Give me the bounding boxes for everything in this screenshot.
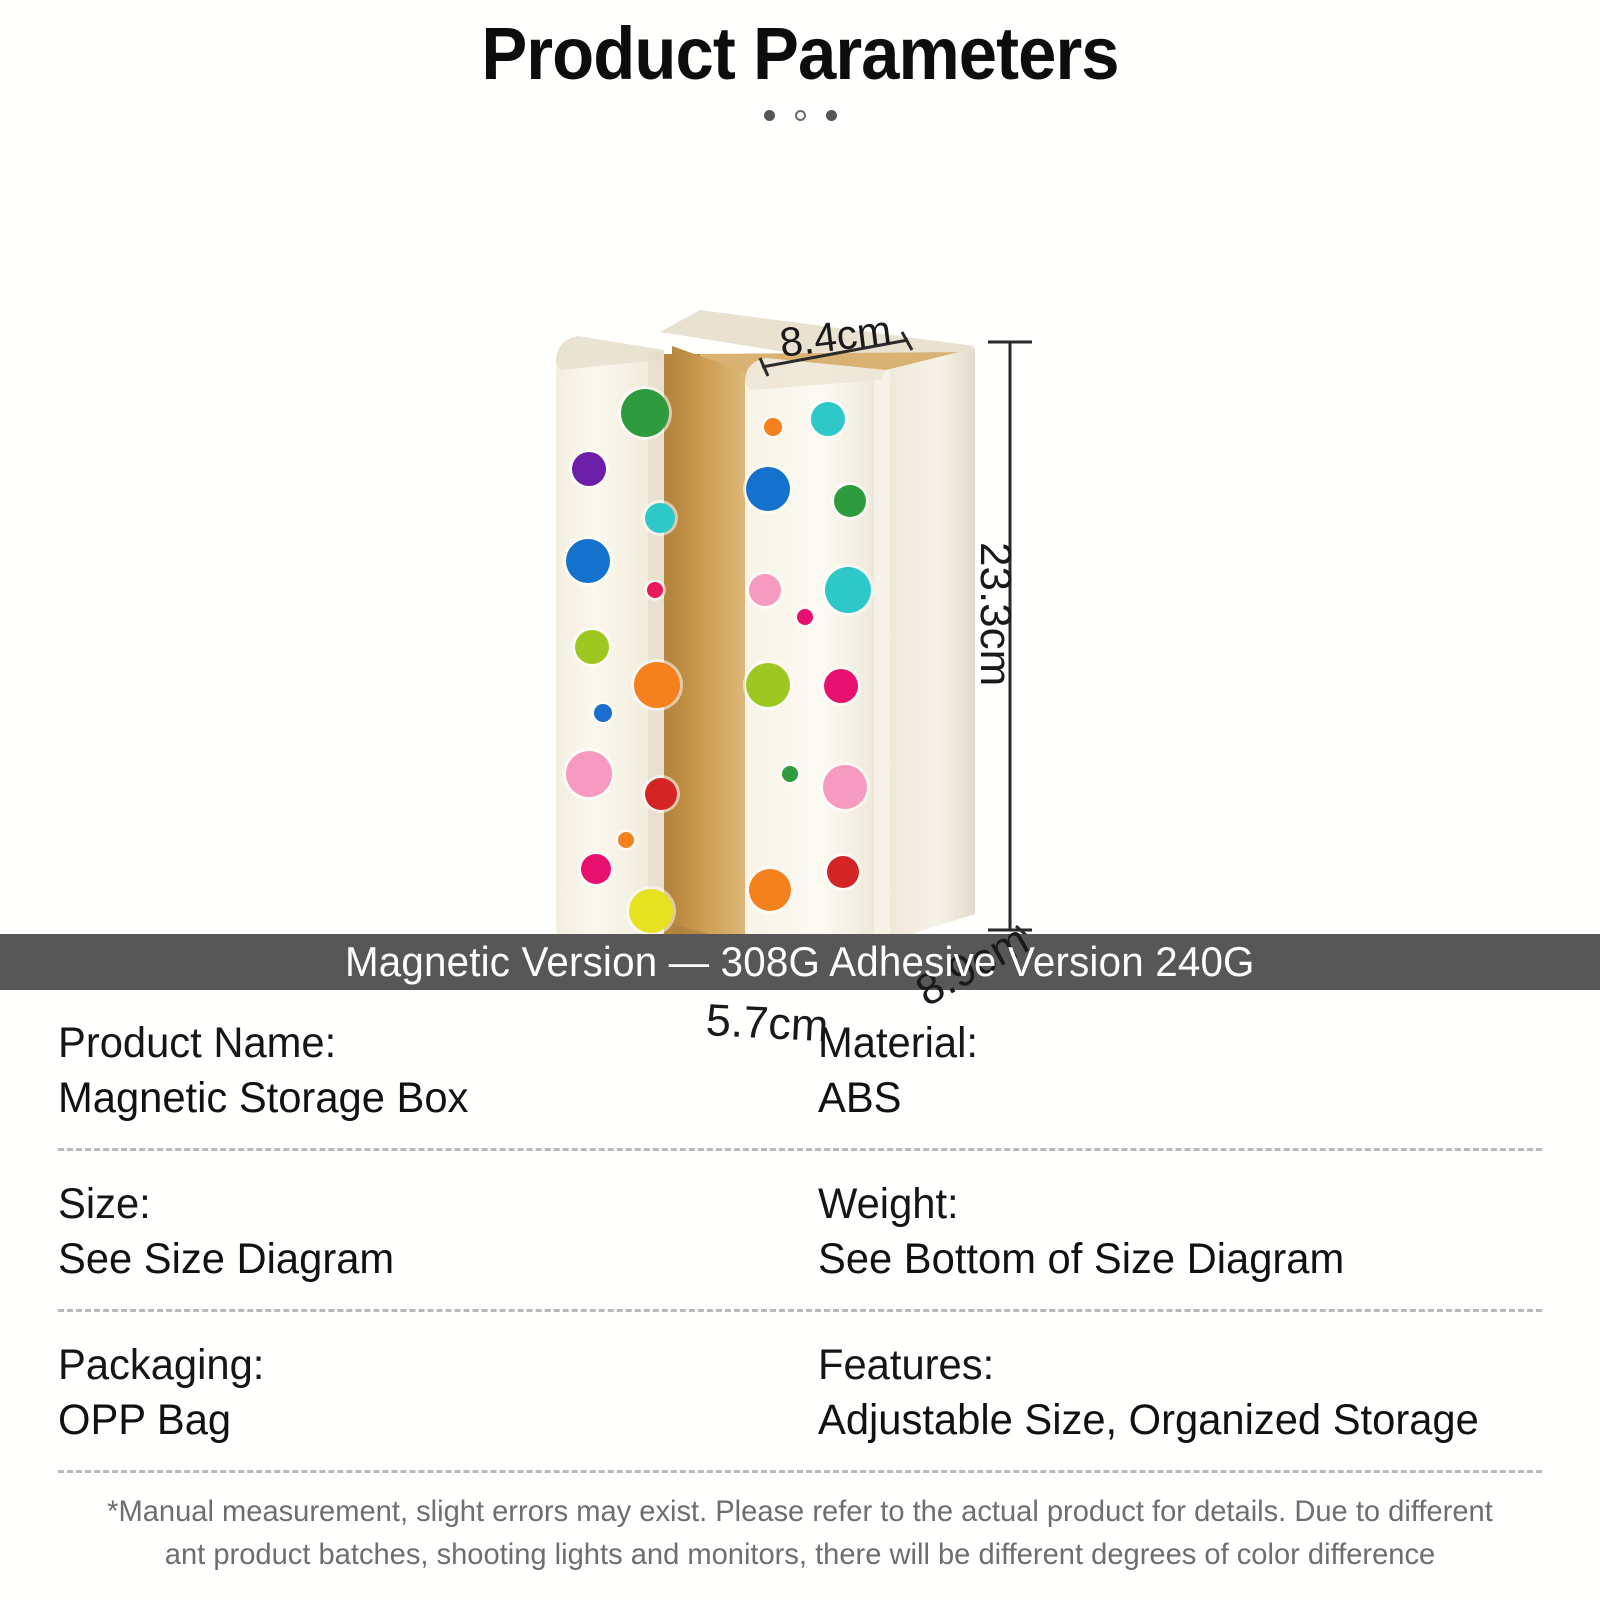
right-panel-dot-3 bbox=[746, 467, 790, 511]
right-panel-dot-1 bbox=[764, 418, 782, 436]
spec-value: Magnetic Storage Box bbox=[58, 1071, 778, 1126]
right-panel-dot-13 bbox=[827, 856, 859, 888]
spec-value: Adjustable Size, Organized Storage bbox=[818, 1393, 1520, 1448]
box-left-panel bbox=[556, 336, 683, 934]
spec-label: Size: bbox=[58, 1177, 778, 1232]
left-panel-dot-11 bbox=[618, 832, 634, 848]
page-title: Product Parameters bbox=[56, 14, 1544, 94]
left-panel-dot-10 bbox=[645, 778, 677, 810]
product-illustration bbox=[0, 124, 1600, 934]
spec-value: OPP Bag bbox=[58, 1393, 778, 1448]
spec-label: Material: bbox=[818, 1016, 1520, 1071]
left-panel-dot-12 bbox=[581, 854, 611, 884]
spec-value: See Size Diagram bbox=[58, 1232, 778, 1287]
page-header: Product Parameters bbox=[0, 0, 1600, 124]
spec-value: See Bottom of Size Diagram bbox=[818, 1232, 1520, 1287]
weight-version-banner: Magnetic Version — 308G Adhesive Version… bbox=[0, 934, 1600, 990]
spec-cell-features: Features: Adjustable Size, Organized Sto… bbox=[800, 1338, 1542, 1448]
footnote: *Manual measurement, slight errors may e… bbox=[24, 1491, 1576, 1576]
left-panel-dot-9 bbox=[566, 751, 612, 797]
right-panel-dot-6 bbox=[825, 567, 871, 613]
pager-dots bbox=[0, 108, 1600, 124]
spec-label: Features: bbox=[818, 1338, 1520, 1393]
right-panel-dot-12 bbox=[749, 869, 791, 911]
dimension-label-height: 23.3cm bbox=[970, 542, 1020, 686]
left-panel-dot-6 bbox=[575, 630, 609, 664]
right-panel-dot-5 bbox=[749, 574, 781, 606]
banner-text: Magnetic Version — 308G Adhesive Version… bbox=[345, 938, 1255, 986]
right-panel-dot-10 bbox=[782, 766, 798, 782]
table-row: Packaging: OPP Bag Features: Adjustable … bbox=[58, 1312, 1542, 1470]
left-panel-dot-1 bbox=[621, 389, 669, 437]
left-panel-dot-7 bbox=[634, 662, 680, 708]
right-panel-dot-4 bbox=[834, 485, 866, 517]
spec-label: Packaging: bbox=[58, 1338, 778, 1393]
pager-dot-3[interactable] bbox=[826, 110, 837, 121]
pager-dot-2[interactable] bbox=[795, 110, 806, 121]
footnote-line-1: *Manual measurement, slight errors may e… bbox=[67, 1491, 1534, 1534]
right-panel-dot-8 bbox=[746, 663, 790, 707]
spec-value: ABS bbox=[818, 1071, 1520, 1126]
spec-cell-weight: Weight: See Bottom of Size Diagram bbox=[800, 1177, 1542, 1287]
right-panel-dot-9 bbox=[824, 669, 858, 703]
left-panel-dot-13 bbox=[629, 889, 673, 933]
spec-cell-material: Material: ABS bbox=[800, 1016, 1542, 1126]
box-right-panel bbox=[720, 348, 975, 934]
footnote-line-2: ant product batches, shooting lights and… bbox=[67, 1534, 1534, 1577]
left-panel-dot-4 bbox=[566, 539, 610, 583]
right-panel-dot-11 bbox=[823, 765, 867, 809]
product-size-diagram: 8.4cm 23.3cm 5.7cm 8.9cm bbox=[0, 124, 1600, 934]
right-panel-dot-2 bbox=[811, 402, 845, 436]
spec-label: Product Name: bbox=[58, 1016, 778, 1071]
row-divider-3 bbox=[58, 1470, 1542, 1473]
spec-label: Weight: bbox=[818, 1177, 1520, 1232]
pager-dot-1[interactable] bbox=[764, 110, 775, 121]
spec-cell-product-name: Product Name: Magnetic Storage Box bbox=[58, 1016, 800, 1126]
right-panel-dot-7 bbox=[797, 609, 813, 625]
spec-cell-packaging: Packaging: OPP Bag bbox=[58, 1338, 800, 1448]
left-panel-dot-3 bbox=[645, 503, 675, 533]
left-panel-dot-2 bbox=[572, 452, 606, 486]
left-panel-dot-5 bbox=[647, 582, 663, 598]
left-panel-dot-8 bbox=[594, 704, 612, 722]
table-row: Size: See Size Diagram Weight: See Botto… bbox=[58, 1151, 1542, 1309]
spec-cell-size: Size: See Size Diagram bbox=[58, 1177, 800, 1287]
